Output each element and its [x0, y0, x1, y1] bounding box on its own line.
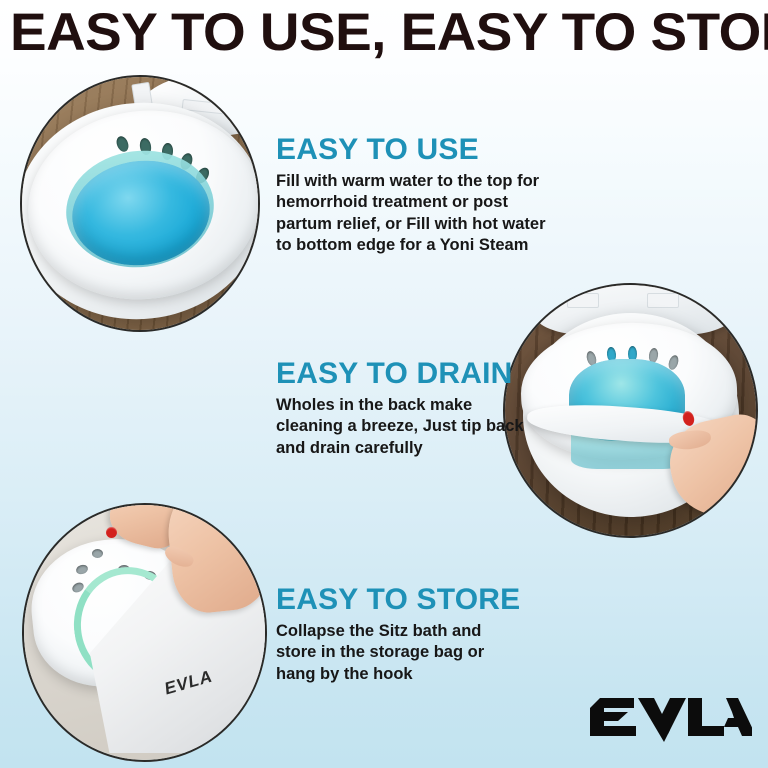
- body-easy-to-store: Collapse the Sitz bath and store in the …: [276, 621, 526, 685]
- heading-easy-to-drain: EASY TO DRAIN: [276, 357, 538, 391]
- photo-easy-to-use: [22, 77, 258, 330]
- text-block-easy-to-store: EASY TO STORE Collapse the Sitz bath and…: [276, 583, 526, 685]
- fingernail: [106, 527, 117, 538]
- heading-easy-to-use: EASY TO USE: [276, 133, 546, 167]
- drain-hole: [92, 549, 103, 558]
- page-title: EASY TO USE, EASY TO STORE: [10, 2, 768, 64]
- lid-hinge: [567, 293, 599, 308]
- text-block-easy-to-use: EASY TO USE Fill with warm water to the …: [276, 133, 546, 257]
- heading-easy-to-store: EASY TO STORE: [276, 583, 526, 617]
- body-easy-to-use: Fill with warm water to the top for hemo…: [276, 171, 546, 257]
- photo-easy-to-drain: [505, 285, 756, 536]
- text-block-easy-to-drain: EASY TO DRAIN Wholes in the back make cl…: [276, 357, 538, 459]
- brand-logo-evla: [588, 688, 752, 744]
- photo-easy-to-store: EVLA: [24, 505, 265, 760]
- infographic-page: EASY TO USE, EASY TO STORE: [0, 0, 768, 768]
- body-easy-to-drain: Wholes in the back make cleaning a breez…: [276, 395, 538, 459]
- lid-hinge: [647, 293, 679, 308]
